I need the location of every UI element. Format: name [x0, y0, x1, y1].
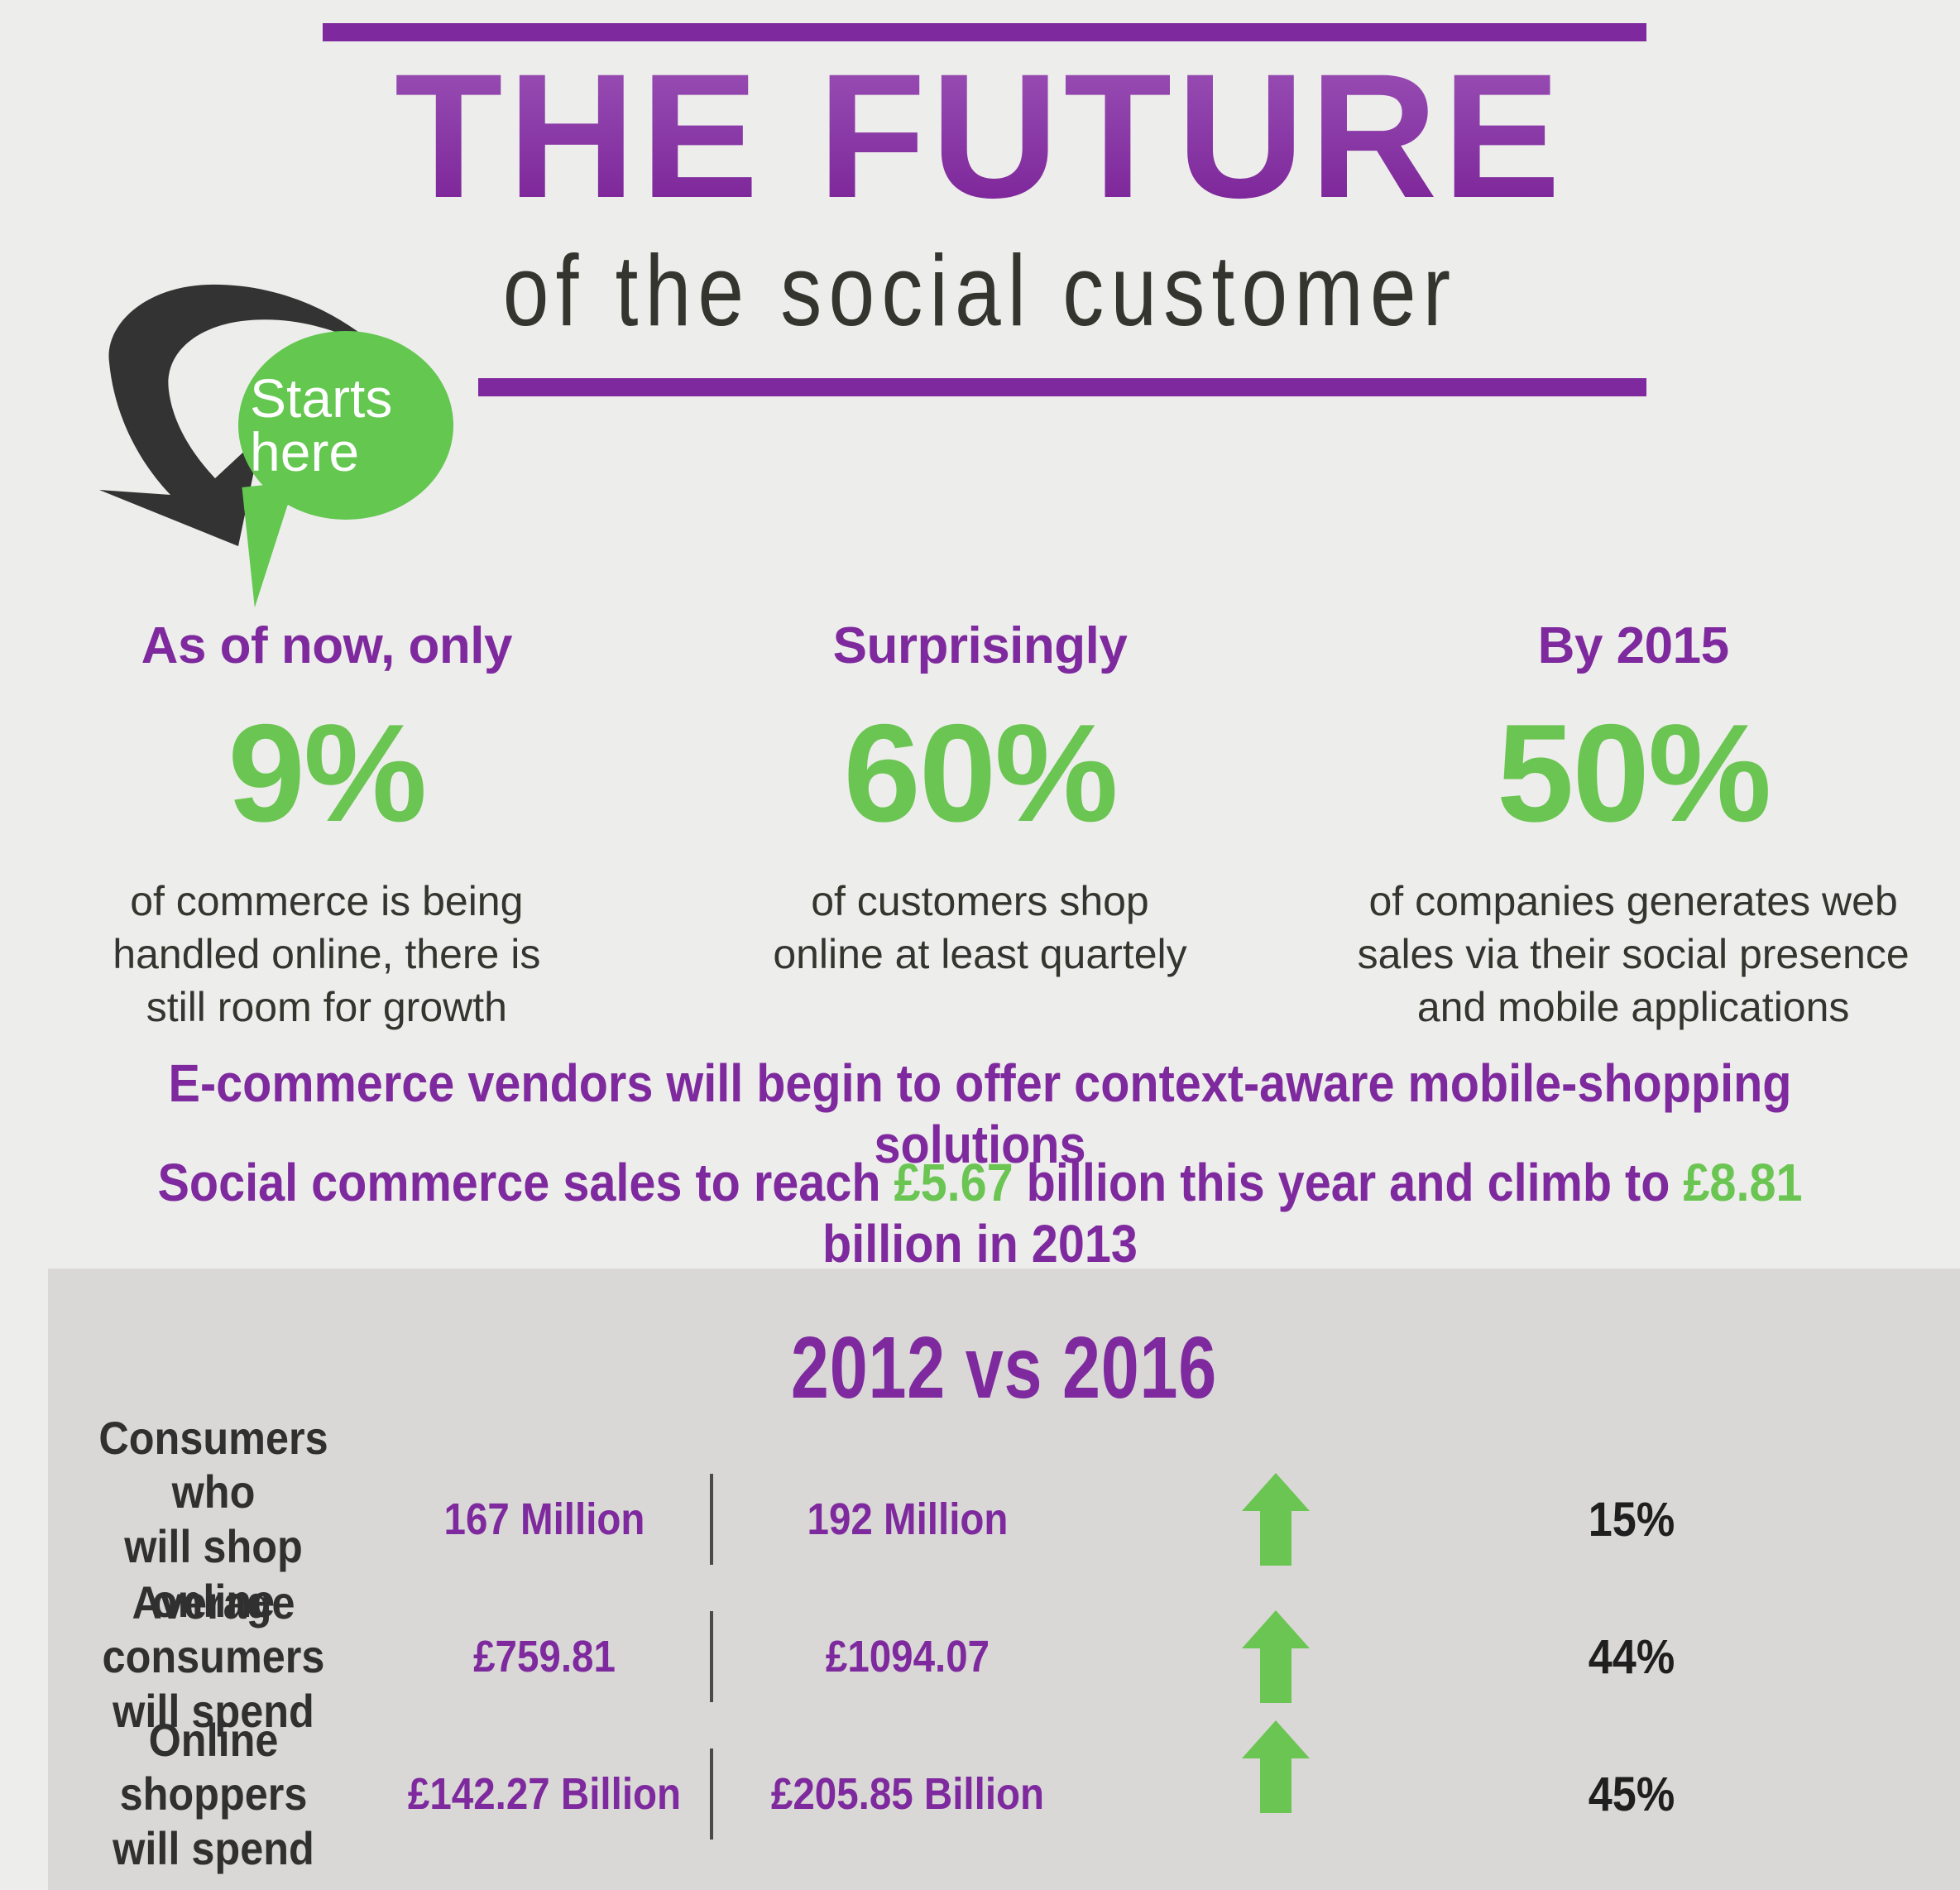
- row-trend: [1102, 1719, 1450, 1815]
- starts-here-line-2: here: [250, 425, 453, 479]
- stat-number: 9%: [20, 693, 634, 853]
- stat-number: 50%: [1326, 693, 1940, 853]
- table-row: Average consumers will spend £759.81 £10…: [48, 1588, 1960, 1725]
- statement-sales-value-1: £5.67: [894, 1153, 1014, 1212]
- row-label-line-1: Online shoppers: [65, 1713, 362, 1821]
- stat-column-commerce: As of now, only 9% of commerce is being …: [0, 616, 654, 1034]
- table-row: Consumers who will shop online 167 Milli…: [48, 1451, 1960, 1588]
- row-value-2012: £759.81: [399, 1631, 690, 1682]
- comparison-title: 2012 vs 2016: [258, 1318, 1750, 1418]
- stat-heading: As of now, only: [20, 616, 634, 675]
- starts-here-line-1: Starts: [250, 372, 453, 425]
- stat-description: of commerce is being handled online, the…: [20, 875, 634, 1034]
- statement-sales: Social commerce sales to reach £5.67 bil…: [98, 1152, 1862, 1274]
- up-arrow-icon: [1240, 1471, 1311, 1567]
- page-title: THE FUTURE: [0, 48, 1960, 225]
- statement-sales-part-1: Social commerce sales to reach: [157, 1153, 894, 1212]
- row-value-2016: £205.85 Billion: [736, 1768, 1079, 1820]
- up-arrow-icon: [1240, 1719, 1311, 1815]
- comparison-table: Consumers who will shop online 167 Milli…: [48, 1451, 1960, 1863]
- row-label: Online shoppers will spend: [65, 1713, 362, 1876]
- starts-here-bubble: Starts here: [238, 331, 453, 520]
- stat-heading: By 2015: [1326, 616, 1940, 675]
- up-arrow-icon: [1240, 1609, 1311, 1705]
- table-row: Online shoppers will spend £142.27 Billi…: [48, 1725, 1960, 1863]
- stat-heading: Surprisingly: [673, 616, 1287, 675]
- statement-sales-part-2: billion this year and climb to: [1027, 1153, 1684, 1212]
- row-label-line-1: Consumers who: [65, 1411, 362, 1519]
- row-trend: [1102, 1471, 1450, 1567]
- row-value-2016: 192 Million: [736, 1494, 1079, 1545]
- stat-number: 60%: [673, 693, 1287, 853]
- stat-column-companies: By 2015 50% of companies generates web s…: [1306, 616, 1960, 1034]
- stat-description: of companies generates web sales via the…: [1326, 875, 1940, 1034]
- row-change: 44%: [1468, 1629, 1795, 1685]
- row-value-2012: 167 Million: [399, 1494, 690, 1545]
- row-label-line-1: Average consumers: [65, 1576, 362, 1684]
- starts-here-label: Starts here: [238, 372, 453, 478]
- title-rule-bottom: [478, 378, 1646, 396]
- column-divider: [710, 1611, 713, 1702]
- page-subtitle: of the social customer: [176, 240, 1784, 341]
- column-divider: [710, 1748, 713, 1840]
- row-trend: [1102, 1609, 1450, 1705]
- row-value-2012: £142.27 Billion: [399, 1768, 690, 1820]
- row-change: 45%: [1468, 1767, 1795, 1822]
- stats-row: As of now, only 9% of commerce is being …: [0, 616, 1960, 1034]
- statement-sales-part-3: billion in 2013: [822, 1214, 1138, 1274]
- row-label-line-2: will spend: [65, 1821, 362, 1876]
- statement-sales-value-2: £8.81: [1683, 1153, 1802, 1212]
- stat-description: of customers shop online at least quarte…: [673, 875, 1287, 981]
- row-value-2016: £1094.07: [736, 1631, 1079, 1682]
- column-divider: [710, 1474, 713, 1565]
- comparison-panel: 2012 vs 2016 Consumers who will shop onl…: [48, 1269, 1960, 1890]
- stat-column-customers: Surprisingly 60% of customers shop onlin…: [654, 616, 1307, 1034]
- header: THE FUTURE of the social customer Starts…: [0, 0, 1960, 414]
- row-change: 15%: [1468, 1492, 1795, 1547]
